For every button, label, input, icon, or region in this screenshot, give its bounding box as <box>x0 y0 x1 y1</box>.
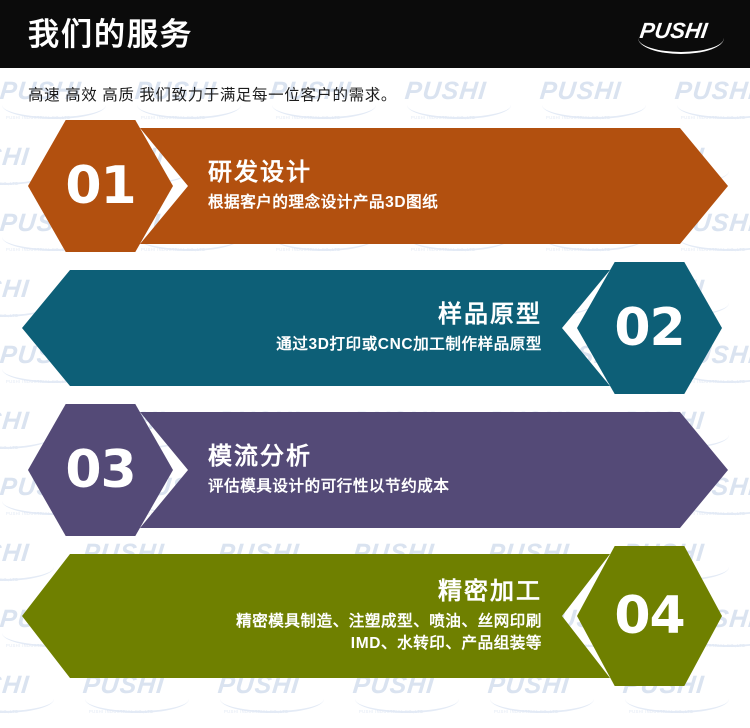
step-description-line2: IMD、水转印、产品组装等 <box>351 633 542 655</box>
step-bar: 样品原型通过3D打印或CNC加工制作样品原型 <box>22 270 610 386</box>
step-description: 根据客户的理念设计产品3D图纸 <box>208 192 438 214</box>
step-number: 01 <box>65 160 135 212</box>
pushi-logo: PUSHI <box>636 14 728 54</box>
subtitle-bar: 高速 高效 高质 我们致力于满足每一位客户的需求。 <box>0 68 750 120</box>
page-header: 我们的服务 PUSHI <box>0 0 750 68</box>
watermark-subtext: PUSHI INDUSTRIAL CO.,LTD <box>0 709 18 714</box>
page-title: 我们的服务 <box>28 19 193 50</box>
step-description: 精密模具制造、注塑成型、喷油、丝网印刷 <box>236 611 542 633</box>
step-bar: 精密加工精密模具制造、注塑成型、喷油、丝网印刷IMD、水转印、产品组装等 <box>22 554 610 678</box>
watermark-swoosh-icon <box>490 699 594 713</box>
service-step-row: 精密加工精密模具制造、注塑成型、喷油、丝网印刷IMD、水转印、产品组装等04 <box>0 546 750 686</box>
step-bar-content: 模流分析评估模具设计的可行性以节约成本 <box>208 442 450 498</box>
step-number: 03 <box>65 444 135 496</box>
watermark-swoosh-icon <box>625 699 729 713</box>
step-bar: 模流分析评估模具设计的可行性以节约成本 <box>140 412 728 528</box>
watermark-swoosh-icon <box>355 699 459 713</box>
watermark-subtext: PUSHI INDUSTRIAL CO.,LTD <box>89 709 153 714</box>
step-title: 模流分析 <box>208 442 450 472</box>
watermark-subtext: PUSHI INDUSTRIAL CO.,LTD <box>359 709 423 714</box>
service-step-row: 样品原型通过3D打印或CNC加工制作样品原型02 <box>0 262 750 394</box>
watermark-subtext: PUSHI INDUSTRIAL CO.,LTD <box>494 709 558 714</box>
step-bar: 研发设计根据客户的理念设计产品3D图纸 <box>140 128 728 244</box>
service-steps-list: 研发设计根据客户的理念设计产品3D图纸01样品原型通过3D打印或CNC加工制作样… <box>0 120 750 686</box>
step-bar-content: 样品原型通过3D打印或CNC加工制作样品原型 <box>276 300 542 356</box>
step-description: 评估模具设计的可行性以节约成本 <box>208 476 450 498</box>
step-bar-content: 精密加工精密模具制造、注塑成型、喷油、丝网印刷IMD、水转印、产品组装等 <box>236 577 542 654</box>
step-title: 精密加工 <box>438 577 542 607</box>
subtitle-text: 高速 高效 高质 我们致力于满足每一位客户的需求。 <box>28 83 397 105</box>
service-step-row: 研发设计根据客户的理念设计产品3D图纸01 <box>0 120 750 252</box>
swoosh-icon <box>638 38 724 54</box>
step-title: 样品原型 <box>438 300 542 330</box>
watermark-swoosh-icon <box>85 699 189 713</box>
watermark-swoosh-icon <box>220 699 324 713</box>
watermark-subtext: PUSHI INDUSTRIAL CO.,LTD <box>629 709 693 714</box>
watermark-swoosh-icon <box>0 699 54 713</box>
step-number: 02 <box>614 302 684 354</box>
step-number: 04 <box>614 590 684 642</box>
step-title: 研发设计 <box>208 158 438 188</box>
watermark-subtext: PUSHI INDUSTRIAL CO.,LTD <box>224 709 288 714</box>
step-description: 通过3D打印或CNC加工制作样品原型 <box>276 334 542 356</box>
step-bar-content: 研发设计根据客户的理念设计产品3D图纸 <box>208 158 438 214</box>
service-step-row: 模流分析评估模具设计的可行性以节约成本03 <box>0 404 750 536</box>
